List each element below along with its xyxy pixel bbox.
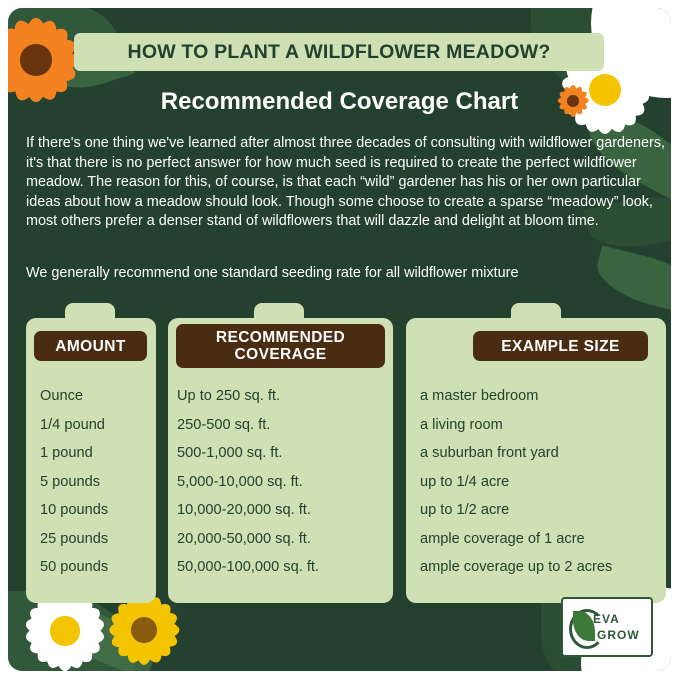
page-subtitle: Recommended Coverage Chart: [8, 88, 671, 116]
yellow-flower-bottom-left: [106, 592, 182, 668]
table-cell-amount: 1/4 pound: [40, 411, 108, 440]
table-cell-coverage: 500-1,000 sq. ft.: [177, 439, 319, 468]
table-cell-amount: 25 pounds: [40, 525, 108, 554]
recommendation-paragraph: We generally recommend one standard seed…: [26, 264, 666, 284]
column-header-example: EXAMPLE SIZE: [473, 331, 648, 361]
table-cell-coverage: 50,000-100,000 sq. ft.: [177, 553, 319, 582]
poster-title-banner: HOW TO PLANT A WILDFLOWER MEADOW?: [74, 33, 604, 71]
coverage-column: Up to 250 sq. ft. 250-500 sq. ft. 500-1,…: [177, 382, 319, 582]
logo-line1: EVA: [593, 612, 620, 626]
table-cell-coverage: 5,000-10,000 sq. ft.: [177, 468, 319, 497]
table-cell-example: up to 1/2 acre: [420, 496, 612, 525]
table-cell-example: ample coverage up to 2 acres: [420, 553, 612, 582]
table-cell-coverage: Up to 250 sq. ft.: [177, 382, 319, 411]
amount-column: Ounce 1/4 pound 1 pound 5 pounds 10 poun…: [40, 382, 108, 582]
table-cell-amount: 10 pounds: [40, 496, 108, 525]
column-header-amount: AMOUNT: [34, 331, 147, 361]
example-column: a master bedroom a living room a suburba…: [420, 382, 612, 582]
table-cell-example: a living room: [420, 411, 612, 440]
table-cell-coverage: 10,000-20,000 sq. ft.: [177, 496, 319, 525]
poster-card: HOW TO PLANT A WILDFLOWER MEADOW? Recomm…: [8, 8, 671, 671]
table-cell-example: a suburban front yard: [420, 439, 612, 468]
logo-line2: GROW: [597, 628, 640, 642]
table-cell-amount: 1 pound: [40, 439, 108, 468]
table-cell-coverage: 20,000-50,000 sq. ft.: [177, 525, 319, 554]
table-cell-amount: Ounce: [40, 382, 108, 411]
intro-paragraph: If there's one thing we've learned after…: [26, 134, 666, 232]
brand-logo: EVA GROW: [561, 597, 653, 657]
table-cell-amount: 50 pounds: [40, 553, 108, 582]
table-cell-amount: 5 pounds: [40, 468, 108, 497]
table-cell-example: up to 1/4 acre: [420, 468, 612, 497]
table-cell-coverage: 250-500 sq. ft.: [177, 411, 319, 440]
column-header-coverage: RECOMMENDED COVERAGE: [176, 324, 385, 368]
poster-page: HOW TO PLANT A WILDFLOWER MEADOW? Recomm…: [0, 0, 679, 679]
table-cell-example: a master bedroom: [420, 382, 612, 411]
page-title: HOW TO PLANT A WILDFLOWER MEADOW?: [128, 41, 551, 64]
table-cell-example: ample coverage of 1 acre: [420, 525, 612, 554]
